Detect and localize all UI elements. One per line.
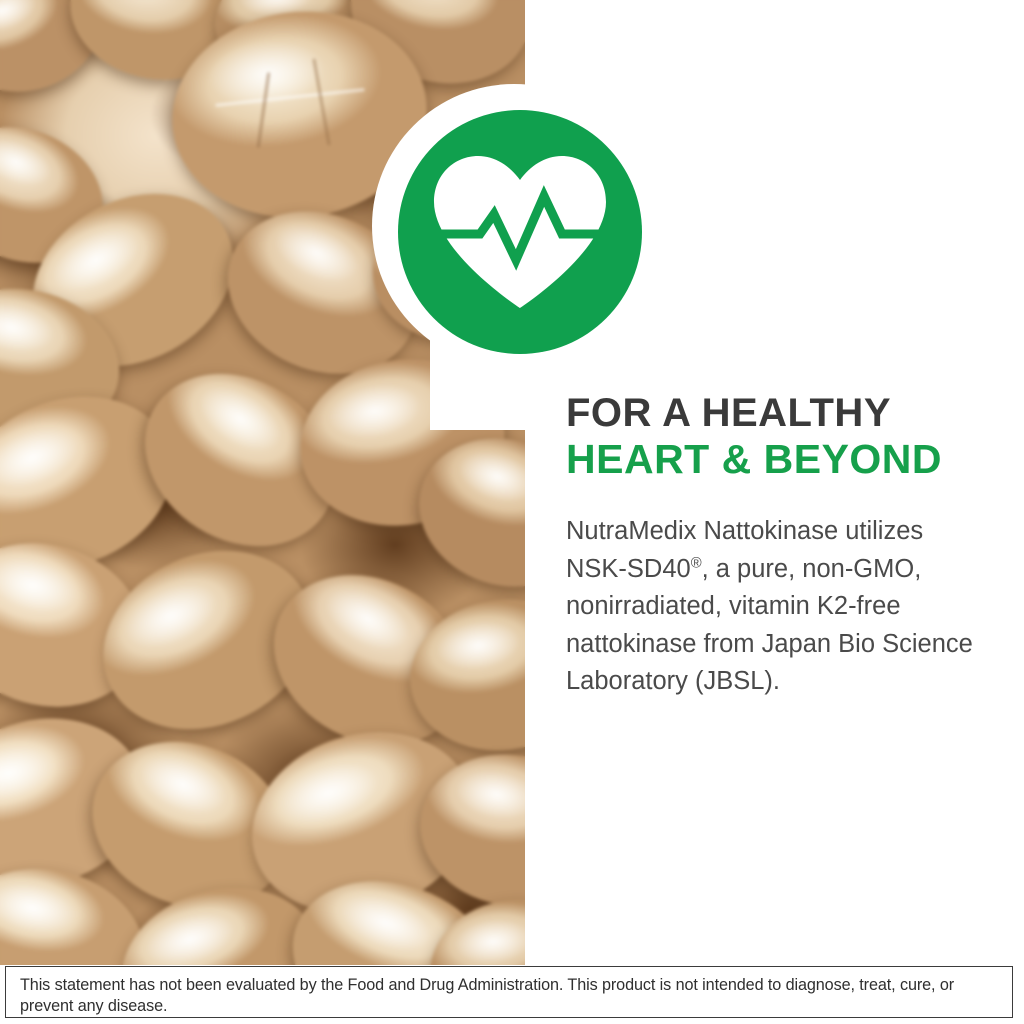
headline-primary: FOR A HEALTHY xyxy=(566,392,986,435)
promo-graphic: FOR A HEALTHY HEART & BEYOND NutraMedix … xyxy=(0,0,1024,1024)
body-paragraph: NutraMedix Nattokinase utilizes NSK-SD40… xyxy=(566,513,974,700)
text-content: FOR A HEALTHY HEART & BEYOND NutraMedix … xyxy=(566,392,986,701)
headline-accent: HEART & BEYOND xyxy=(566,437,986,481)
registered-trademark-mark: ® xyxy=(691,555,702,571)
heart-pulse-icon xyxy=(398,110,642,354)
fda-disclaimer-text: This statement has not been evaluated by… xyxy=(6,967,1012,1018)
fda-disclaimer-box: This statement has not been evaluated by… xyxy=(5,966,1013,1018)
heart-pulse-badge xyxy=(398,110,642,354)
